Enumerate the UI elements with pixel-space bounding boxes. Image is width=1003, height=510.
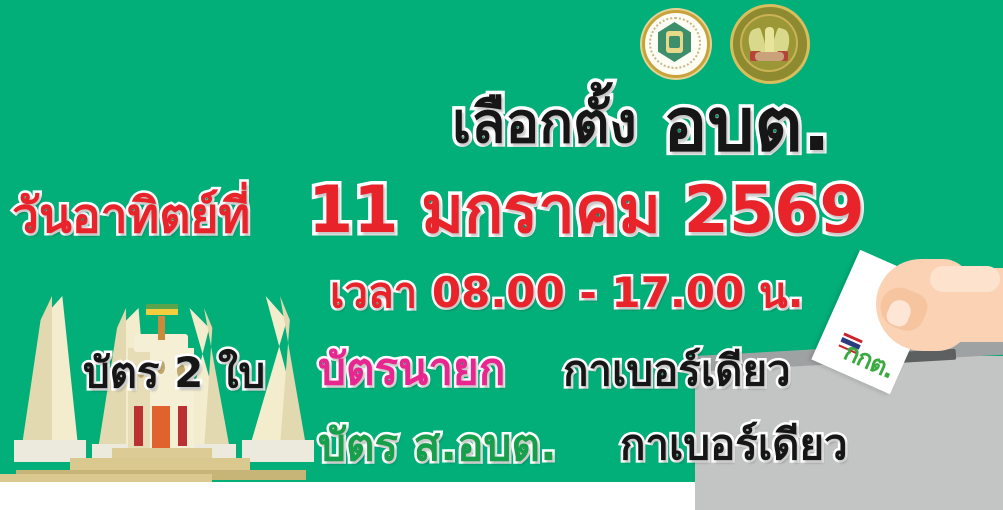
ballot-mayor-label: บัตรนายก [318,348,505,392]
ballot-council-instruction: กาเบอร์เดียว [620,424,848,466]
headline-abt: อบต. [663,88,831,162]
ballot-mayor-instruction: กาเบอร์เดียว [563,350,791,392]
ballot-council-label: บัตร ส.อบต. [318,424,557,468]
sao-seal-icon [730,4,810,84]
ect-seal-icon [642,10,710,78]
ballots-count-label: บัตร 2 ใบ [83,352,265,394]
hand-highlight [930,266,1000,292]
date-prefix: วันอาทิตย์ที่ [12,192,250,240]
headline-election: เลือกตั้ง [452,96,637,152]
election-poster: กกต. [0,0,1003,510]
time-line: เวลา 08.00 - 17.00 น. [330,272,804,314]
date-main: 11 มกราคม 2569 [308,178,865,243]
